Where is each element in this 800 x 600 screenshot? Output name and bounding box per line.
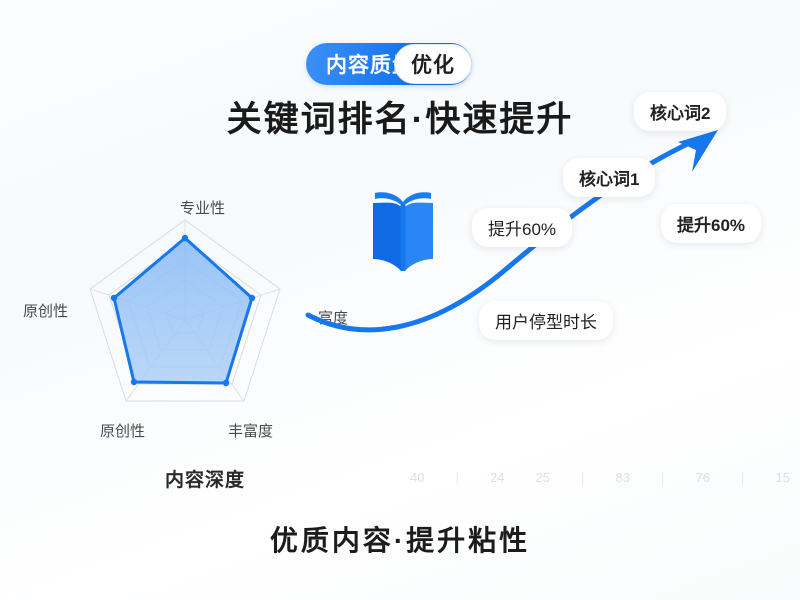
tick-8: | <box>741 470 744 485</box>
tick-7: 76 <box>695 470 709 485</box>
tick-3: 25 <box>536 470 550 485</box>
bottom-tagline: 优质内容·提升粘性 <box>0 519 800 559</box>
poster-canvas: 内容质量 优化 关键词排名·快速提升 优质内容·提升粘性 内容深度 <box>0 0 800 600</box>
radar-chart: 专业性 富度 丰富度 原创性 原创性 <box>30 215 340 450</box>
tick-2: 24 <box>490 470 504 485</box>
radar-label-bottom-left: 原创性 <box>100 420 145 441</box>
tick-4: | <box>581 470 584 485</box>
radar-label-bottom-right: 丰富度 <box>228 420 273 441</box>
radar-series-polygon <box>114 238 252 383</box>
tick-6: | <box>661 470 664 485</box>
tick-0: 40 <box>410 470 424 485</box>
radar-label-left: 原创性 <box>23 300 68 321</box>
callout-keyword-2[interactable]: 核心词2 <box>634 92 726 131</box>
callout-keyword-1[interactable]: 核心词1 <box>563 158 655 197</box>
content-depth-label: 内容深度 <box>165 465 245 492</box>
callout-boost-60-right[interactable]: 提升60% <box>661 204 761 243</box>
tick-9: 15 <box>775 470 789 485</box>
tick-5: 83 <box>616 470 630 485</box>
open-book-icon <box>368 185 438 282</box>
content-quality-badge: 内容质量 优化 <box>306 43 472 85</box>
badge-sub-label: 优化 <box>394 44 472 84</box>
callout-dwell-time[interactable]: 用户停型时长 <box>479 301 613 340</box>
faint-axis-ticks: 40 | 24 25 | 83 | 76 | 15 <box>410 466 790 488</box>
tick-1: | <box>456 470 459 485</box>
callout-boost-60-left[interactable]: 提升60% <box>472 208 572 247</box>
radar-label-top: 专业性 <box>180 197 225 218</box>
